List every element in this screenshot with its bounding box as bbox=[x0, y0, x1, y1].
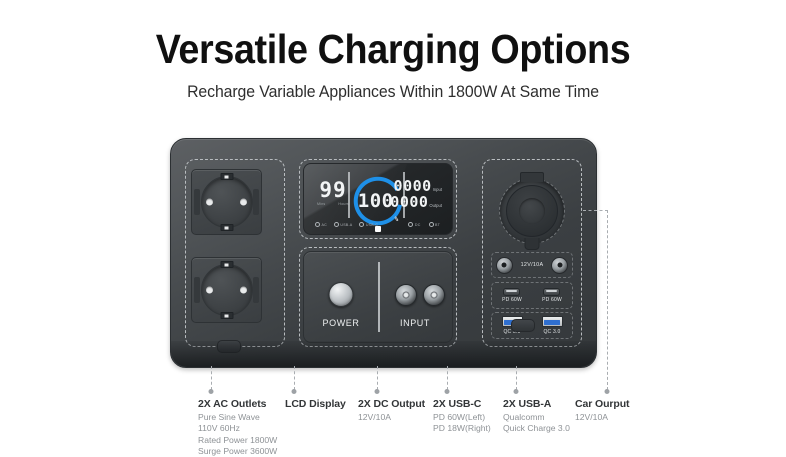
callout-usb-c: 2X USB-C PD 60W(Left) PD 18W(Right) bbox=[433, 398, 491, 435]
ac-outlet-top[interactable] bbox=[191, 169, 262, 235]
battery-percent-value: 100 bbox=[358, 192, 394, 211]
input-section: INPUT bbox=[378, 252, 452, 342]
power-input-panel: POWER INPUT bbox=[303, 251, 453, 343]
callout-car-output: Car Ourput 12V/10A bbox=[575, 398, 629, 423]
runtime-value: 99 bbox=[316, 180, 350, 201]
leader-line-ac bbox=[211, 366, 212, 390]
callout-usb-a: 2X USB-A Qualcomm Quick Charge 3.0 bbox=[503, 398, 570, 435]
earth-notch-left bbox=[194, 277, 200, 303]
dc-output-jack-left[interactable] bbox=[496, 257, 513, 274]
callout-lcd-display: LCD Display bbox=[285, 398, 346, 410]
status-ac-icon: AC bbox=[315, 222, 327, 227]
callout-line: Rated Power 1800W bbox=[198, 435, 277, 446]
earth-notch-right bbox=[253, 277, 259, 303]
input-watt-value: 0000 bbox=[394, 178, 432, 194]
callout-title: Car Ourput bbox=[575, 398, 629, 410]
usba-port-right[interactable]: QC 3.0 bbox=[542, 316, 563, 335]
callout-line: 12V/10A bbox=[575, 412, 629, 423]
callout-title: 2X AC Outlets bbox=[198, 398, 277, 410]
ac-pin-hole-right bbox=[240, 287, 247, 294]
leader-line-lcd bbox=[294, 366, 295, 390]
status-bt-icon: BT bbox=[429, 222, 441, 227]
leader-dot-usbc bbox=[445, 389, 450, 394]
power-button[interactable] bbox=[329, 282, 354, 307]
infographic-canvas: Versatile Charging Options Recharge Vari… bbox=[0, 0, 786, 451]
callout-line: Pure Sine Wave bbox=[198, 412, 277, 423]
callout-line: 110V 60Hz bbox=[198, 423, 277, 434]
status-usbc-icon: USB-C bbox=[359, 222, 378, 227]
lcd-readouts: 0000 Input 0000 Output bbox=[390, 178, 442, 210]
socket-cap-hinge bbox=[520, 172, 544, 182]
status-dc-icon: DC bbox=[408, 222, 420, 227]
callout-dc-output: 2X DC Output 12V/10A bbox=[358, 398, 425, 423]
earth-clip-top bbox=[220, 261, 233, 268]
percent-symbol: % bbox=[395, 216, 399, 223]
callout-line: Qualcomm bbox=[503, 412, 570, 423]
ac-outlet-bottom[interactable] bbox=[191, 257, 262, 323]
usbc-right-label: PD 60W bbox=[542, 297, 562, 303]
usba-connector-icon bbox=[542, 316, 563, 327]
callout-title: 2X USB-A bbox=[503, 398, 570, 410]
runtime-unit-mins: Mins bbox=[317, 202, 325, 206]
leader-dot-ac bbox=[209, 389, 214, 394]
leader-line-dc bbox=[377, 366, 378, 390]
earth-notch-left bbox=[194, 189, 200, 215]
callout-line: Quick Charge 3.0 bbox=[503, 423, 570, 434]
dc-output-jack-right[interactable] bbox=[551, 257, 568, 274]
earth-clip-bottom bbox=[220, 224, 233, 231]
ac-pin-hole-left bbox=[206, 287, 213, 294]
leader-dot-lcd bbox=[292, 389, 297, 394]
lcd-status-left: AC USB-A USB-C bbox=[315, 222, 378, 227]
callout-line: PD 60W(Left) bbox=[433, 412, 491, 423]
callout-line: PD 18W(Right) bbox=[433, 423, 491, 434]
ac-panel-tab bbox=[217, 340, 241, 353]
right-port-group: 12V/10A PD 60W PD 60W QC 3.0 bbox=[482, 159, 582, 347]
lcd-display-group: 99 Mins Hours 100 % bbox=[299, 159, 457, 239]
callout-line: 12V/10A bbox=[358, 412, 425, 423]
leader-dot-car bbox=[605, 389, 610, 394]
input-label: INPUT bbox=[378, 318, 452, 328]
callout-title: LCD Display bbox=[285, 398, 346, 410]
usbc-left-label: PD 60W bbox=[502, 297, 522, 303]
callout-ac-outlets: 2X AC Outlets Pure Sine Wave 110V 60Hz R… bbox=[198, 398, 277, 457]
callout-title: 2X USB-C bbox=[433, 398, 491, 410]
lcd-bracket-left bbox=[348, 172, 350, 218]
dc-output-row: 12V/10A bbox=[491, 252, 573, 278]
callout-title: 2X DC Output bbox=[358, 398, 425, 410]
input-watt-unit: Input bbox=[433, 187, 442, 192]
ac-pin-hole-right bbox=[240, 199, 247, 206]
power-section: POWER bbox=[304, 252, 378, 342]
leader-dot-usba bbox=[514, 389, 519, 394]
dc-input-jack-2[interactable] bbox=[423, 284, 445, 306]
lcd-runtime: 99 Mins Hours bbox=[316, 180, 350, 206]
callout-line: Surge Power 3600W bbox=[198, 446, 277, 457]
power-station-device: PURESINE-WAVE 220-240V/1800W bbox=[170, 138, 597, 368]
dc-output-label: 12V/10A bbox=[521, 262, 544, 268]
usba-right-label: QC 3.0 bbox=[543, 329, 560, 335]
lcd-status-right: DC BT bbox=[408, 222, 440, 227]
port-panel-tab bbox=[511, 319, 535, 332]
usbc-port-row: PD 60W PD 60W bbox=[491, 282, 573, 309]
usbc-connector-icon bbox=[503, 288, 520, 296]
dc-input-jack-1[interactable] bbox=[395, 284, 417, 306]
power-label: POWER bbox=[304, 318, 378, 328]
power-input-group: POWER INPUT bbox=[299, 247, 457, 347]
leader-dot-dc bbox=[375, 389, 380, 394]
car-output-socket[interactable] bbox=[499, 178, 565, 244]
earth-clip-bottom bbox=[220, 312, 233, 319]
usbc-connector-icon bbox=[543, 288, 560, 296]
usbc-port-right[interactable]: PD 60W bbox=[542, 288, 562, 304]
status-usba-icon: USB-A bbox=[334, 222, 352, 227]
page-title: Versatile Charging Options bbox=[31, 26, 754, 73]
earth-notch-right bbox=[253, 189, 259, 215]
leader-line-car-h bbox=[583, 210, 608, 211]
socket-cap bbox=[506, 185, 558, 237]
leader-line-usbc bbox=[447, 366, 448, 390]
socket-cap-tab bbox=[525, 238, 540, 250]
page-subtitle: Recharge Variable Appliances Within 1800… bbox=[16, 83, 771, 102]
lcd-screen: 99 Mins Hours 100 % bbox=[303, 163, 453, 235]
usbc-port-left[interactable]: PD 60W bbox=[502, 288, 522, 304]
output-watt-value: 0000 bbox=[390, 194, 428, 210]
ac-pin-hole-left bbox=[206, 199, 213, 206]
leader-line-car-v bbox=[607, 210, 608, 390]
output-watt-unit: Output bbox=[429, 203, 442, 208]
earth-clip-top bbox=[220, 173, 233, 180]
leader-line-usba bbox=[516, 366, 517, 390]
